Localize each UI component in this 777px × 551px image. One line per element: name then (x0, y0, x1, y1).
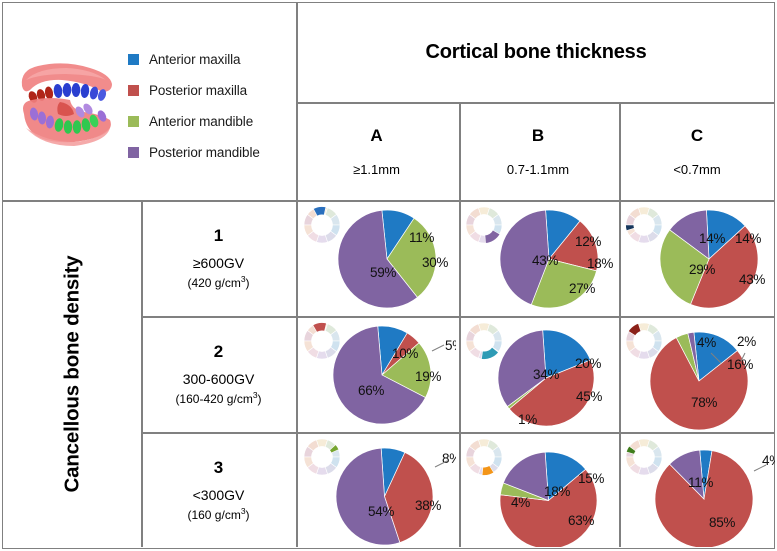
chart-cell-A2: 10%5%19%66% (297, 317, 456, 431)
pie-label-A3-1: 38% (415, 498, 441, 513)
chart-cell-A3: 8%38%54% (297, 433, 456, 547)
column-range-a: ≥1.1mm (353, 162, 400, 177)
pie-label-C3-2: 11% (688, 475, 713, 490)
column-range-b: 0.7-1.1mm (507, 162, 569, 177)
pie-label-A2-1: 5% (445, 338, 456, 353)
chart-cell-B1: 12%18%27%43% (459, 201, 616, 315)
row-density-3-text: (160 g/cm (187, 508, 240, 522)
row-number-3: 3 (214, 458, 223, 478)
row-density-1-text: (420 g/cm (187, 276, 240, 290)
legend-list: Anterior maxilla Posterior maxilla Anter… (128, 44, 298, 168)
row-density-3: (160 g/cm3) (187, 506, 249, 522)
pie-label-C1-1: 43% (739, 272, 765, 287)
donut-thumbnail-C1 (624, 205, 664, 245)
chart-cell-C1: 14%43%29%14% (619, 201, 775, 315)
legend-item-anterior-maxilla: Anterior maxilla (128, 44, 298, 75)
pie-label-B1-0: 12% (575, 234, 601, 249)
pie-label-C2-3: 78% (691, 395, 717, 410)
row-header-1: 1 ≥600GV (420 g/cm3) (142, 201, 295, 315)
pie-label-A2-0: 10% (392, 346, 418, 361)
row-gv-2: 300-600GV (183, 371, 255, 387)
pie-label-B3-0: 15% (578, 471, 604, 486)
legend-swatch-icon-posterior-mandible (128, 147, 139, 158)
chart-cell-C3: 4%85%11% (619, 433, 775, 547)
pie-label-C1-3: 14% (699, 231, 725, 246)
column-range-c: <0.7mm (673, 162, 720, 177)
pie-label-B2-3: 34% (533, 367, 559, 382)
legend-label-posterior-mandible: Posterior mandible (149, 145, 260, 160)
dental-arches-illustration (16, 56, 124, 148)
chart-cell-B3: 15%63%4%18% (459, 433, 616, 547)
pie-label-C3-0: 4% (762, 453, 775, 468)
row-header-2: 2 300-600GV (160-420 g/cm3) (142, 317, 295, 431)
legend-item-anterior-mandible: Anterior mandible (128, 106, 298, 137)
pie-label-A1-1: 30% (422, 255, 448, 270)
column-header-b: B 0.7-1.1mm (459, 103, 617, 199)
pie-label-C1-2: 29% (689, 262, 715, 277)
pie-label-B1-1: 18% (587, 256, 613, 271)
chart-cell-B2: 20%45%1%34% (459, 317, 616, 431)
row-number-2: 2 (214, 342, 223, 362)
legend-label-posterior-maxilla: Posterior maxilla (149, 83, 247, 98)
row-gv-3: <300GV (193, 487, 245, 503)
row-number-1: 1 (214, 226, 223, 246)
pie-label-B2-1: 45% (576, 389, 602, 404)
pie-label-B3-1: 63% (568, 513, 594, 528)
row-axis-title-cancellous-bone-density: Cancellous bone density (4, 201, 141, 547)
pie-label-C2-1: 2% (737, 334, 756, 349)
figure-root: Anterior maxilla Posterior maxilla Anter… (0, 0, 777, 551)
pie-label-B1-3: 43% (532, 253, 558, 268)
pie-label-B1-2: 27% (569, 281, 595, 296)
legend-item-posterior-mandible: Posterior mandible (128, 137, 298, 168)
legend-panel: Anterior maxilla Posterior maxilla Anter… (4, 4, 295, 199)
pie-label-A1-0: 11% (409, 230, 434, 245)
legend-swatch-icon-anterior-maxilla (128, 54, 139, 65)
row-density-2-text: (160-420 g/cm (175, 392, 252, 406)
pie-label-A2-2: 19% (415, 369, 441, 384)
column-letter-a: A (370, 126, 382, 146)
pie-label-C3-1: 85% (709, 515, 735, 530)
donut-thumbnail-A1 (302, 205, 342, 245)
legend-item-posterior-maxilla: Posterior maxilla (128, 75, 298, 106)
pie-label-A2-3: 66% (358, 383, 384, 398)
pie-label-B2-0: 20% (575, 356, 601, 371)
legend-label-anterior-maxilla: Anterior maxilla (149, 52, 240, 67)
donut-thumbnail-B1 (464, 205, 504, 245)
row-density-2-end: ) (258, 392, 262, 406)
row-density-1: (420 g/cm3) (187, 274, 249, 290)
column-header-c: C <0.7mm (619, 103, 775, 199)
pie-chart-A3 (335, 447, 434, 546)
column-letter-b: B (532, 126, 544, 146)
header-title-cortical-bone-thickness: Cortical bone thickness (297, 4, 775, 101)
row-density-2: (160-420 g/cm3) (175, 390, 261, 406)
pie-label-B2-2: 1% (518, 412, 537, 427)
pie-label-B3-3: 18% (544, 484, 570, 499)
pie-label-C1-0: 14% (735, 231, 761, 246)
legend-swatch-icon-anterior-mandible (128, 116, 139, 127)
chart-cell-C2: 4%2%16%78% (619, 317, 775, 431)
chart-cell-A1: 11%30%59% (297, 201, 456, 315)
row-density-3-end: ) (246, 508, 250, 522)
column-letter-c: C (691, 126, 703, 146)
legend-label-anterior-mandible: Anterior mandible (149, 114, 253, 129)
pie-label-A3-2: 54% (368, 504, 394, 519)
pie-label-B3-2: 4% (511, 495, 530, 510)
legend-swatch-icon-posterior-maxilla (128, 85, 139, 96)
pie-chart-C3 (654, 449, 754, 547)
pie-label-C2-2: 16% (727, 357, 753, 372)
row-gv-1: ≥600GV (193, 255, 244, 271)
pie-chart-C1 (659, 209, 759, 309)
row-axis-title-text: Cancellous bone density (61, 256, 85, 493)
pie-label-A3-0: 8% (442, 451, 456, 466)
column-header-a: A ≥1.1mm (297, 103, 456, 199)
donut-thumbnail-B3 (464, 437, 504, 477)
pie-label-C2-0: 4% (697, 335, 716, 350)
pie-label-A1-2: 59% (370, 265, 396, 280)
row-header-3: 3 <300GV (160 g/cm3) (142, 433, 295, 547)
row-density-1-end: ) (246, 276, 250, 290)
